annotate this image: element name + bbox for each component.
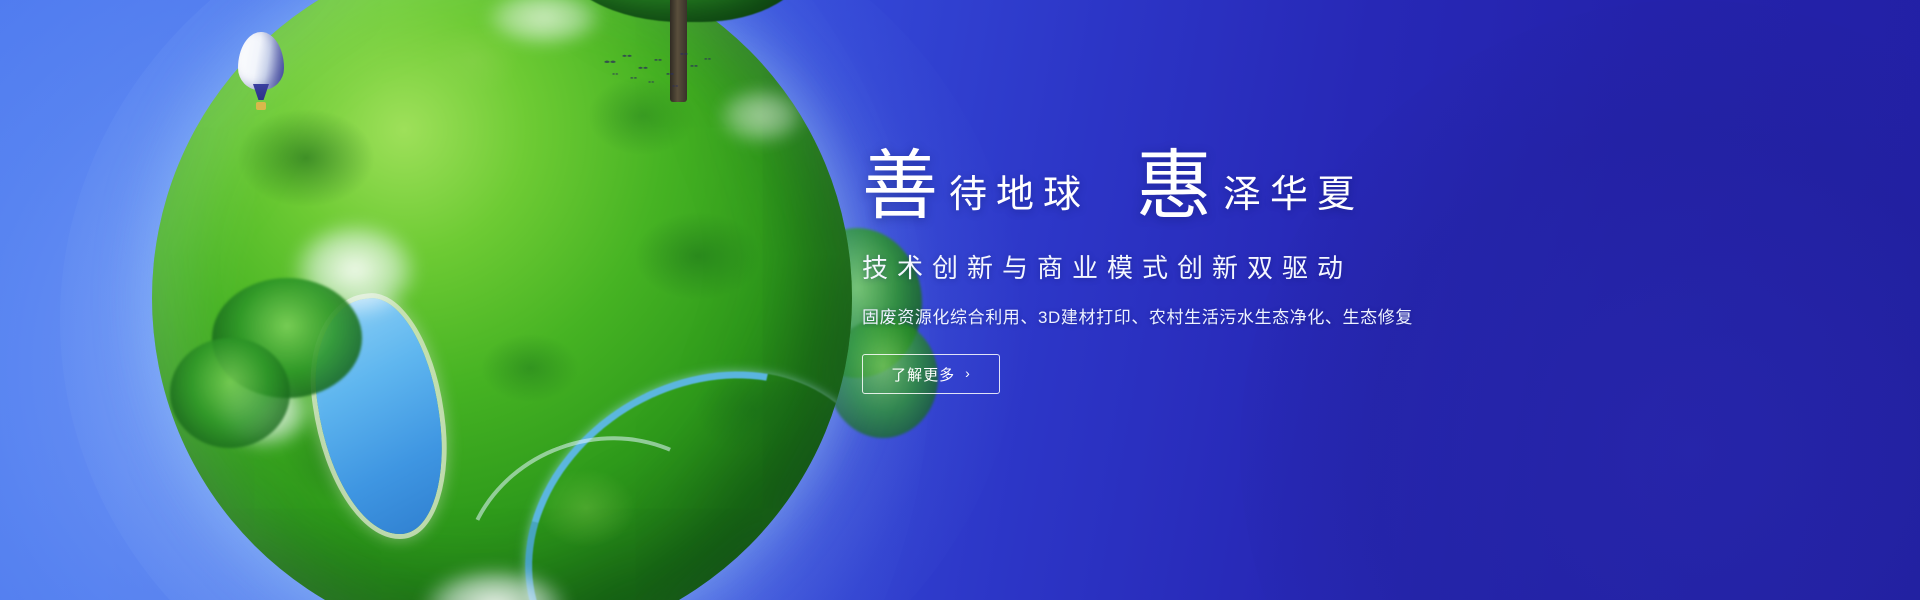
bird-flock-icon xyxy=(600,50,720,100)
hero-banner: 善 待地球 惠 泽华夏 技术创新与商业模式创新双驱动 固废资源化综合利用、3D建… xyxy=(0,0,1920,600)
balloon-skirt xyxy=(253,84,269,100)
learn-more-label: 了解更多 xyxy=(891,364,955,385)
hero-content: 善 待地球 惠 泽华夏 技术创新与商业模式创新双驱动 固废资源化综合利用、3D建… xyxy=(862,132,1422,394)
hero-headline: 善 待地球 惠 泽华夏 xyxy=(862,132,1422,224)
headline-phrase2-small: 泽华夏 xyxy=(1213,176,1364,224)
headline-phrase1-big: 善 xyxy=(862,151,939,224)
headline-phrase1-small: 待地球 xyxy=(939,176,1090,224)
hero-description: 固废资源化综合利用、3D建材打印、农村生活污水生态净化、生态修复 xyxy=(862,303,1422,328)
chevron-right-icon: › xyxy=(965,366,971,380)
hero-subtitle: 技术创新与商业模式创新双驱动 xyxy=(862,248,1422,285)
headline-phrase2-big: 惠 xyxy=(1136,151,1213,224)
hot-air-balloon xyxy=(238,32,284,118)
balloon-basket xyxy=(256,102,266,110)
balloon-envelope xyxy=(238,32,284,90)
side-tree-left-lower xyxy=(170,338,290,448)
learn-more-button[interactable]: 了解更多 › xyxy=(862,354,1000,394)
